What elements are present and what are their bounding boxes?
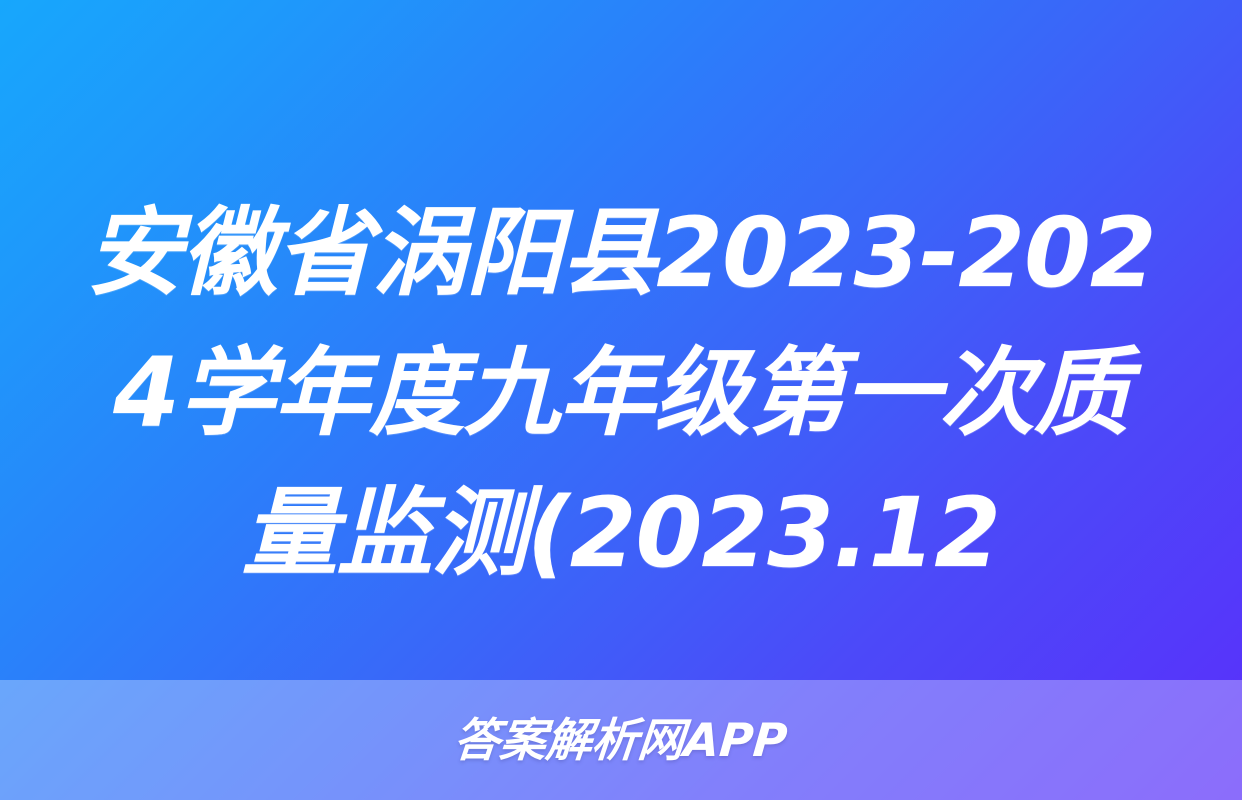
- title-line-1: 安徽省涡阳县2023-202: [86, 183, 1156, 323]
- title-line-3: 量监测(2023.12: [86, 463, 1156, 603]
- watermark-label: 答案解析网APP: [452, 717, 789, 763]
- page-title: 安徽省涡阳县2023-202 4学年度九年级第一次质 量监测(2023.12: [0, 183, 1242, 603]
- poster-canvas: 安徽省涡阳县2023-202 4学年度九年级第一次质 量监测(2023.12 答…: [0, 0, 1242, 800]
- title-line-2: 4学年度九年级第一次质: [86, 323, 1156, 463]
- watermark-band: 答案解析网APP: [0, 680, 1242, 800]
